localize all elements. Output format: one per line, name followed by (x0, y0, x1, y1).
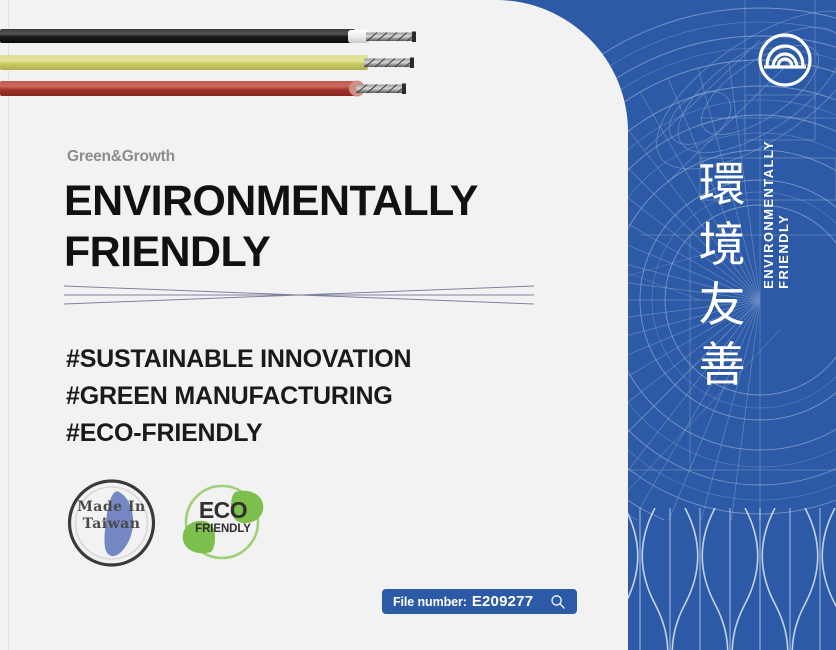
red-cable (0, 81, 406, 97)
eco-friendly-badge: ECO FRIENDLY (177, 478, 269, 573)
headline-line-1: ENVIRONMENTALLY (64, 176, 584, 227)
cable-product-image (0, 0, 520, 130)
hashtag-item-3: #ECO-FRIENDLY (66, 415, 411, 452)
cjk-char-2: 境 (694, 216, 750, 276)
crossing-lines-divider (64, 277, 534, 313)
content-card: Green&Growth ENVIRONMENTALLY FRIENDLY #S… (0, 0, 628, 650)
headline-line-2: FRIENDLY (64, 227, 584, 278)
black-cable (0, 29, 416, 43)
company-circle-mark-icon (757, 32, 813, 88)
english-vertical-line-2: FRIENDLY (776, 140, 791, 289)
cjk-char-1: 環 (694, 156, 750, 216)
made-in-taiwan-icon (64, 478, 159, 568)
cjk-char-4: 善 (694, 336, 750, 396)
made-in-taiwan-badge: Made In Taiwan (64, 478, 159, 573)
hashtag-list: #SUSTAINABLE INNOVATION #GREEN MANUFACTU… (66, 341, 411, 452)
poster-canvas: 環 境 友 善 ENVIRONMENTALLY FRIENDLY (0, 0, 836, 650)
cjk-char-3: 友 (694, 276, 750, 336)
eyebrow-label: Green&Growth (67, 148, 175, 166)
yellow-cable (0, 55, 414, 70)
english-vertical-subtitle: ENVIRONMENTALLY FRIENDLY (761, 140, 791, 289)
hashtag-item-1: #SUSTAINABLE INNOVATION (66, 341, 411, 378)
hashtag-item-2: #GREEN MANUFACTURING (66, 378, 411, 415)
page-title: ENVIRONMENTALLY FRIENDLY (64, 176, 584, 277)
search-icon[interactable] (550, 594, 566, 610)
cjk-vertical-headline: 環 境 友 善 (694, 156, 750, 396)
file-number-value: E209277 (472, 593, 533, 610)
file-number-badge[interactable]: File number: E209277 (382, 589, 577, 614)
eco-friendly-icon (177, 478, 269, 568)
file-number-label: File number: (393, 595, 467, 609)
company-logo (757, 32, 813, 93)
english-vertical-line-1: ENVIRONMENTALLY (761, 140, 776, 289)
